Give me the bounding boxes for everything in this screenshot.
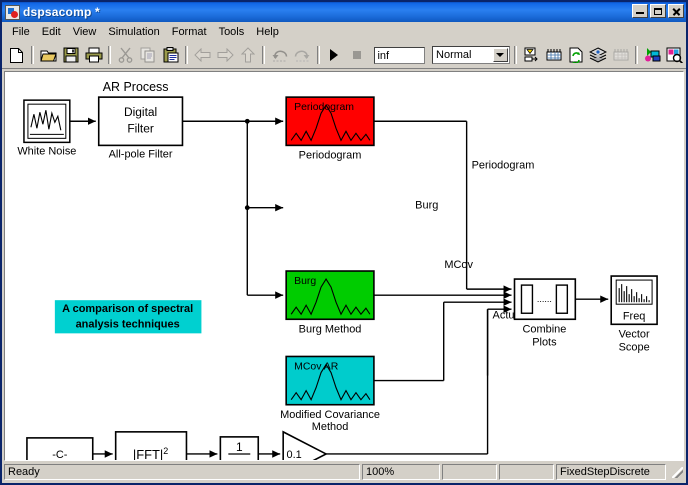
debug-icon[interactable] [521,44,542,66]
wire-periodogram-to-mux [374,121,512,289]
status-message: Ready [4,464,360,480]
copy-pages-icon[interactable] [138,44,159,66]
simulation-mode-select[interactable]: Normal [432,46,510,64]
burg-inner-label: Burg [294,275,316,287]
periodogram-label: Periodogram [299,149,362,161]
reciprocal-numerator: 1 [236,440,243,454]
model-browser-icon[interactable] [642,44,663,66]
status-zoom[interactable]: 100% [362,464,440,480]
burg-method-label: Burg Method [299,323,362,335]
maximize-button[interactable] [650,4,666,18]
magnitude-fft-inner-base: |FFT| [133,447,163,460]
model-advisor-icon[interactable] [665,44,686,66]
play-icon[interactable] [324,44,345,66]
magnitude-fft-inner-exponent: 2 [163,446,168,456]
toolbar-separator-7 [635,46,638,64]
annotation-textbox[interactable]: A comparison of spectral analysis techni… [55,300,202,333]
status-field-4 [499,464,554,480]
digital-filter-label: All-pole Filter [109,148,173,160]
vector-scope-label-line1: Vector [619,328,650,340]
simulation-mode-value: Normal [433,47,471,63]
new-document-icon[interactable] [6,44,27,66]
vector-scope-block[interactable]: Freq [611,276,657,324]
toolbar-separator-1 [31,46,34,64]
vector-scope-label-line2: Scope [619,341,650,353]
close-button[interactable] [668,4,684,18]
status-field-3 [442,464,497,480]
window-title: dspsacomp * [23,5,100,19]
undo-icon[interactable] [269,44,290,66]
toolbar-separator-2 [108,46,111,64]
arrow-left-icon[interactable] [192,44,213,66]
toolbar-separator-3 [185,46,188,64]
magnitude-fft-block[interactable]: |FFT|2 [116,432,187,460]
signal-label-burg: Burg [415,200,438,212]
menu-edit[interactable]: Edit [36,24,67,40]
clipboard-paste-icon[interactable] [160,44,181,66]
toolbar: inf Normal [2,42,686,69]
combine-plots-label-line1: Combine [522,323,566,335]
white-noise-block[interactable] [24,100,70,142]
ar-process-group-label: AR Process [103,80,169,94]
wire-filter-trunk [182,119,283,295]
save-floppy-icon[interactable] [61,44,82,66]
simulink-model-window: dspsacomp * File Edit View Simulation Fo… [0,0,688,485]
annotation-line1: A comparison of spectral [62,303,193,315]
signal-label-mcov: MCov [444,259,473,271]
stop-time-input[interactable]: inf [374,47,425,64]
update-grid-icon[interactable] [543,44,564,66]
menu-bar: File Edit View Simulation Format Tools H… [2,22,686,42]
scissors-icon[interactable] [115,44,136,66]
variance-gain-inner: 0.1 [287,449,302,460]
combine-plots-inner: ...... [537,294,552,304]
magnitude-fft-inner: |FFT|2 [133,446,168,460]
mcov-inner-label: MCov AR [294,360,339,372]
combine-plots-label-line2: Plots [532,336,557,348]
digital-filter-inner-line1: Digital [124,105,157,119]
periodogram-block[interactable]: Periodogram [286,97,374,145]
stop-icon[interactable] [346,44,367,66]
reciprocal-denominator: u [236,456,243,460]
menu-tools[interactable]: Tools [213,24,251,40]
ar-coefficients-inner: -C- [52,449,68,460]
build-page-icon[interactable] [565,44,586,66]
annotation-line2: analysis techniques [76,318,180,330]
open-folder-icon[interactable] [38,44,59,66]
menu-view[interactable]: View [67,24,103,40]
modified-covariance-block[interactable]: MCov AR [286,356,374,404]
layers-icon[interactable] [588,44,609,66]
redo-icon[interactable] [291,44,312,66]
chevron-down-icon[interactable] [493,48,508,62]
library-grid-icon[interactable] [610,44,631,66]
menu-format[interactable]: Format [166,24,213,40]
title-bar: dspsacomp * [2,2,686,22]
vector-scope-inner: Freq [623,310,646,322]
minimize-button[interactable] [632,4,648,18]
status-solver: FixedStepDiscrete [556,464,666,480]
burg-method-block[interactable]: Burg [286,271,374,319]
status-bar: Ready 100% FixedStepDiscrete [2,461,686,483]
combine-plots-block[interactable]: ...... [514,279,575,319]
window-controls [632,4,684,18]
toolbar-separator-6 [514,46,517,64]
wire-mcov-to-mux [374,302,512,380]
simulink-model-icon [5,5,20,20]
menu-help[interactable]: Help [250,24,285,40]
signal-label-periodogram: Periodogram [472,159,535,171]
arrow-up-icon[interactable] [237,44,258,66]
digital-filter-inner-line2: Filter [127,121,154,135]
white-noise-label: White Noise [17,145,76,157]
block-diagram[interactable]: AR Process White Noise Digital Filter Al… [5,72,683,460]
digital-filter-block[interactable]: Digital Filter [99,97,183,145]
toolbar-separator-4 [262,46,265,64]
arrow-right-icon[interactable] [215,44,236,66]
menu-file[interactable]: File [6,24,36,40]
ar-coefficients-block[interactable]: -C- [27,438,93,460]
reciprocal-block[interactable]: 1 u [220,437,258,460]
modified-covariance-label-line2: Method [312,421,349,433]
menu-simulation[interactable]: Simulation [102,24,165,40]
printer-icon[interactable] [83,44,104,66]
variance-gain-block[interactable]: 0.1 [283,432,326,460]
toolbar-separator-5 [317,46,320,64]
resize-grip[interactable] [670,465,684,479]
model-canvas[interactable]: AR Process White Noise Digital Filter Al… [4,71,684,461]
modified-covariance-label-line1: Modified Covariance [280,409,380,421]
